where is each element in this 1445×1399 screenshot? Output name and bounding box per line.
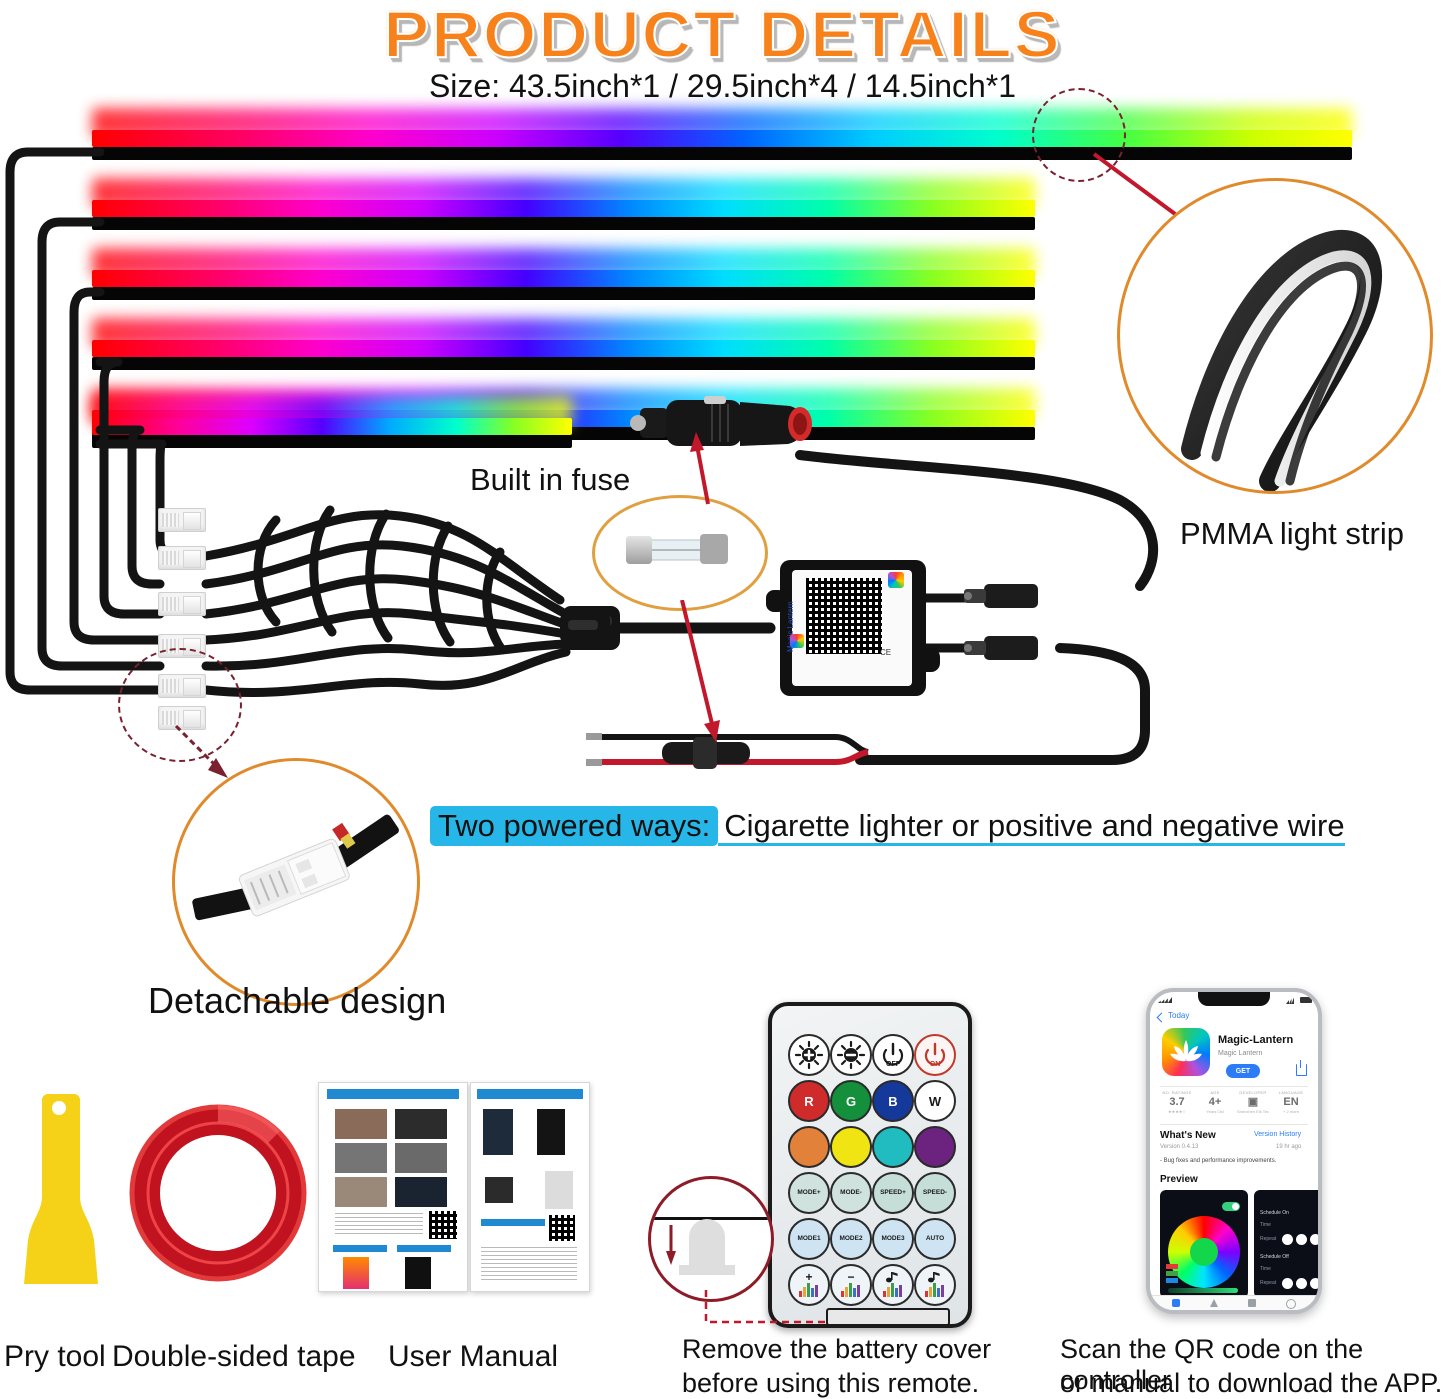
remote-button-speed-[interactable]: SPEED+ bbox=[872, 1172, 914, 1214]
remote-button-brightness-down-icon[interactable] bbox=[830, 1034, 872, 1076]
manual-phone-photo bbox=[343, 1257, 369, 1289]
remote-button-music-note-2-icon[interactable] bbox=[914, 1264, 956, 1306]
tab-today-icon[interactable] bbox=[1172, 1299, 1180, 1307]
app-stat-column: AGE4+Years Old bbox=[1196, 1090, 1234, 1114]
manual-text-block bbox=[481, 1247, 577, 1283]
pmma-label: PMMA light strip bbox=[1180, 516, 1404, 552]
preview-swatch-r bbox=[1166, 1264, 1178, 1269]
svg-text:OFF: OFF bbox=[886, 1061, 901, 1068]
remote-button-mode3[interactable]: MODE3 bbox=[872, 1218, 914, 1260]
powered-ways-highlight: Two powered ways: bbox=[430, 806, 718, 846]
remote-button-r[interactable]: R bbox=[788, 1080, 830, 1122]
remote-button-label: G bbox=[846, 1095, 856, 1108]
remote-button-label: MODE3 bbox=[881, 1236, 904, 1243]
inline-fuse-arrow-icon bbox=[660, 600, 750, 750]
app-release-note: - Bug fixes and performance improvements… bbox=[1160, 1158, 1276, 1164]
whats-new-heading: What's New bbox=[1160, 1130, 1216, 1141]
app-stat-value: 3.7 bbox=[1158, 1095, 1196, 1109]
remote-button-color-yellow-icon[interactable] bbox=[830, 1126, 872, 1168]
inline-module bbox=[554, 600, 634, 658]
detachable-label: Detachable design bbox=[148, 980, 446, 1022]
battery-icon bbox=[1300, 997, 1312, 1003]
brightness-down-icon bbox=[836, 1040, 866, 1070]
remote-button-mode-[interactable]: MODE+ bbox=[788, 1172, 830, 1214]
app-stats-row: NO. RATINGS3.7★★★★☆AGE4+Years OldDEVELOP… bbox=[1158, 1090, 1310, 1120]
schedule-off-label: Schedule Off bbox=[1260, 1254, 1289, 1260]
strip-connector bbox=[158, 546, 206, 570]
remote-button-on[interactable]: ON bbox=[914, 1034, 956, 1076]
manual-header-bar bbox=[327, 1089, 459, 1099]
preview-screenshot-schedule[interactable]: Schedule On Time Repeat Schedule Off Tim… bbox=[1254, 1190, 1322, 1298]
ir-remote-control[interactable]: OFFONRGBWMODE+MODE-SPEED+SPEED-MODE1MODE… bbox=[768, 1002, 972, 1328]
manual-photo bbox=[545, 1171, 573, 1209]
preview-swatch-b bbox=[1166, 1278, 1178, 1283]
svg-text:+: + bbox=[805, 1270, 812, 1284]
manual-qr-code bbox=[549, 1215, 575, 1241]
controller-rainbow-logo-icon-2 bbox=[790, 634, 804, 648]
manual-section-bar bbox=[333, 1245, 387, 1252]
user-manual-caption: User Manual bbox=[388, 1340, 558, 1374]
remote-button-label: AUTO bbox=[926, 1236, 944, 1243]
app-stat-column: NO. RATINGS3.7★★★★☆ bbox=[1158, 1090, 1196, 1114]
preview-slider bbox=[1168, 1288, 1238, 1293]
manual-photo bbox=[395, 1177, 447, 1207]
strip-connector bbox=[158, 508, 206, 532]
schedule-repeat-label-2: Repeat bbox=[1260, 1280, 1276, 1286]
wifi-icon bbox=[1286, 997, 1296, 1004]
double-sided-tape-icon bbox=[118, 1098, 318, 1288]
controller-cert-label: CE bbox=[880, 648, 891, 657]
music-note-2-icon bbox=[919, 1269, 951, 1301]
app-stat-value: EN bbox=[1272, 1095, 1310, 1109]
user-manual-page-1 bbox=[318, 1082, 468, 1292]
phone-back-chevron-icon[interactable] bbox=[1157, 1013, 1167, 1023]
signal-icon bbox=[1158, 997, 1172, 1003]
phone-caption-line2: or manual to download the APP. bbox=[1060, 1368, 1442, 1399]
powered-ways-text: Cigarette lighter or positive and negati… bbox=[718, 808, 1344, 846]
remote-button-g[interactable]: G bbox=[830, 1080, 872, 1122]
app-stats-divider-2 bbox=[1160, 1124, 1308, 1125]
fuse-arrow-icon bbox=[660, 418, 740, 508]
app-stat-sub: + 2 more bbox=[1272, 1109, 1310, 1114]
phone-status-bar bbox=[1150, 992, 1318, 1008]
dc-barrel-plugs bbox=[960, 572, 1070, 682]
remote-button-mode2[interactable]: MODE2 bbox=[830, 1218, 872, 1260]
detachable-callout-circle bbox=[172, 758, 420, 1006]
built-in-fuse-label: Built in fuse bbox=[470, 462, 630, 498]
remote-button-label: R bbox=[804, 1095, 813, 1108]
manual-photo bbox=[335, 1109, 387, 1139]
phone-back-label[interactable]: Today bbox=[1168, 1011, 1189, 1020]
remote-button-color-purple-icon[interactable] bbox=[914, 1126, 956, 1168]
schedule-day-dot[interactable] bbox=[1296, 1278, 1307, 1289]
app-developer: Magic Lantern bbox=[1218, 1050, 1262, 1057]
schedule-day-dot[interactable] bbox=[1310, 1234, 1321, 1245]
schedule-time-label-2: Time bbox=[1260, 1266, 1271, 1272]
jst-connector-photo bbox=[175, 761, 417, 1003]
smartphone-app-store[interactable]: Today Magic-Lantern Magic Lantern GET NO… bbox=[1146, 988, 1322, 1314]
manual-photo bbox=[395, 1143, 447, 1173]
controller-rainbow-logo-icon bbox=[888, 572, 904, 588]
share-arrow-icon bbox=[1300, 1060, 1301, 1068]
remote-button-w[interactable]: W bbox=[914, 1080, 956, 1122]
user-manual-page-2 bbox=[470, 1082, 590, 1292]
schedule-day-dot[interactable] bbox=[1282, 1234, 1293, 1245]
remote-button-off[interactable]: OFF bbox=[872, 1034, 914, 1076]
lotus-glyph-icon bbox=[1162, 1028, 1210, 1076]
app-name: Magic-Lantern bbox=[1218, 1034, 1293, 1046]
manual-section-bar bbox=[397, 1245, 451, 1252]
pry-tool-icon bbox=[18, 1086, 102, 1296]
battery-tab-icon bbox=[651, 1179, 771, 1299]
battery-caption-line2: before using this remote. bbox=[682, 1368, 979, 1399]
preview-screenshot-color-wheel[interactable] bbox=[1160, 1190, 1248, 1298]
manual-photo bbox=[335, 1177, 387, 1207]
manual-qr-code bbox=[429, 1211, 457, 1239]
phone-tab-bar bbox=[1150, 1295, 1318, 1310]
manual-phone-photo bbox=[405, 1257, 431, 1289]
version-history-link[interactable]: Version History bbox=[1254, 1131, 1301, 1138]
remote-button-speed-[interactable]: SPEED- bbox=[914, 1172, 956, 1214]
battery-cover-callout-circle bbox=[648, 1176, 774, 1302]
controller-qr-code bbox=[806, 578, 882, 654]
app-stat-column: LANGUAGEEN+ 2 more bbox=[1272, 1090, 1310, 1114]
app-stat-sub: Years Old bbox=[1196, 1109, 1234, 1114]
remote-button-label: MODE- bbox=[840, 1190, 862, 1197]
remote-button-color-cyan-icon[interactable] bbox=[872, 1126, 914, 1168]
app-stat-value: ▣ bbox=[1234, 1095, 1272, 1109]
manual-photo bbox=[537, 1109, 565, 1155]
pmma-strip-photo bbox=[1120, 181, 1430, 491]
schedule-repeat-label: Repeat bbox=[1260, 1236, 1276, 1242]
app-stat-value: 4+ bbox=[1196, 1095, 1234, 1109]
remote-button-label: SPEED- bbox=[923, 1190, 947, 1197]
remote-button-label: B bbox=[888, 1095, 897, 1108]
remote-button-grid: OFFONRGBWMODE+MODE-SPEED+SPEED-MODE1MODE… bbox=[772, 1006, 968, 1324]
remote-button-label: SPEED+ bbox=[880, 1190, 906, 1197]
app-stat-sub: ★★★★☆ bbox=[1158, 1109, 1196, 1114]
strip-connector bbox=[158, 592, 206, 616]
manual-header-bar bbox=[477, 1089, 583, 1099]
manual-photo bbox=[483, 1109, 513, 1155]
remote-button-mode-[interactable]: MODE- bbox=[830, 1172, 872, 1214]
app-icon bbox=[1162, 1028, 1210, 1076]
color-wheel-center bbox=[1190, 1238, 1218, 1266]
schedule-day-dot[interactable] bbox=[1310, 1278, 1321, 1289]
tab-search-icon[interactable] bbox=[1286, 1299, 1296, 1309]
schedule-time-label: Time bbox=[1260, 1222, 1271, 1228]
remote-battery-cover-slot bbox=[826, 1308, 950, 1326]
glass-fuse-icon bbox=[612, 518, 742, 582]
app-stat-column: DEVELOPER▣Shenzhen Elk Tec bbox=[1234, 1090, 1272, 1114]
remote-button-color-orange-icon[interactable] bbox=[788, 1126, 830, 1168]
battery-caption-line1: Remove the battery cover bbox=[682, 1334, 991, 1365]
remote-button-b[interactable]: B bbox=[872, 1080, 914, 1122]
preview-heading: Preview bbox=[1160, 1174, 1198, 1185]
remote-button-label: MODE2 bbox=[839, 1236, 862, 1243]
remote-button-label: MODE1 bbox=[797, 1236, 820, 1243]
app-time-ago: 19 hr ago bbox=[1276, 1144, 1301, 1150]
remote-button-label: MODE+ bbox=[797, 1190, 820, 1197]
pry-tool-caption: Pry tool bbox=[4, 1340, 106, 1374]
preview-swatch-g bbox=[1166, 1271, 1178, 1276]
preview-toggle-knob bbox=[1232, 1203, 1239, 1210]
app-get-button[interactable]: GET bbox=[1226, 1064, 1260, 1078]
remote-button-auto[interactable]: AUTO bbox=[914, 1218, 956, 1260]
share-icon[interactable] bbox=[1296, 1064, 1307, 1076]
manual-text-block bbox=[335, 1213, 423, 1235]
double-sided-tape-caption: Double-sided tape bbox=[112, 1340, 356, 1374]
tab-apps-icon[interactable] bbox=[1248, 1299, 1256, 1307]
power-off-icon: OFF bbox=[878, 1040, 908, 1070]
powered-ways-banner: Two powered ways:Cigarette lighter or po… bbox=[430, 806, 1345, 846]
pmma-callout-circle bbox=[1117, 178, 1433, 494]
manual-photo bbox=[335, 1143, 387, 1173]
app-version: Version 0.4.13 bbox=[1160, 1144, 1198, 1150]
svg-text:−: − bbox=[847, 1270, 854, 1284]
svg-text:ON: ON bbox=[930, 1061, 941, 1068]
manual-photo bbox=[485, 1177, 513, 1203]
schedule-day-dot[interactable] bbox=[1296, 1234, 1307, 1245]
remote-button-mode1[interactable]: MODE1 bbox=[788, 1218, 830, 1260]
manual-section-bar bbox=[481, 1219, 545, 1226]
power-on-icon: ON bbox=[920, 1040, 950, 1070]
schedule-day-dot[interactable] bbox=[1282, 1278, 1293, 1289]
app-stats-divider bbox=[1160, 1086, 1308, 1087]
remote-button-label: W bbox=[929, 1095, 941, 1108]
tab-games-icon[interactable] bbox=[1210, 1299, 1218, 1307]
manual-photo bbox=[395, 1109, 447, 1139]
app-stat-sub: Shenzhen Elk Tec bbox=[1234, 1109, 1272, 1114]
remote-button-brightness-up-icon[interactable] bbox=[788, 1034, 830, 1076]
schedule-on-label: Schedule On bbox=[1260, 1210, 1289, 1216]
brightness-up-icon bbox=[794, 1040, 824, 1070]
